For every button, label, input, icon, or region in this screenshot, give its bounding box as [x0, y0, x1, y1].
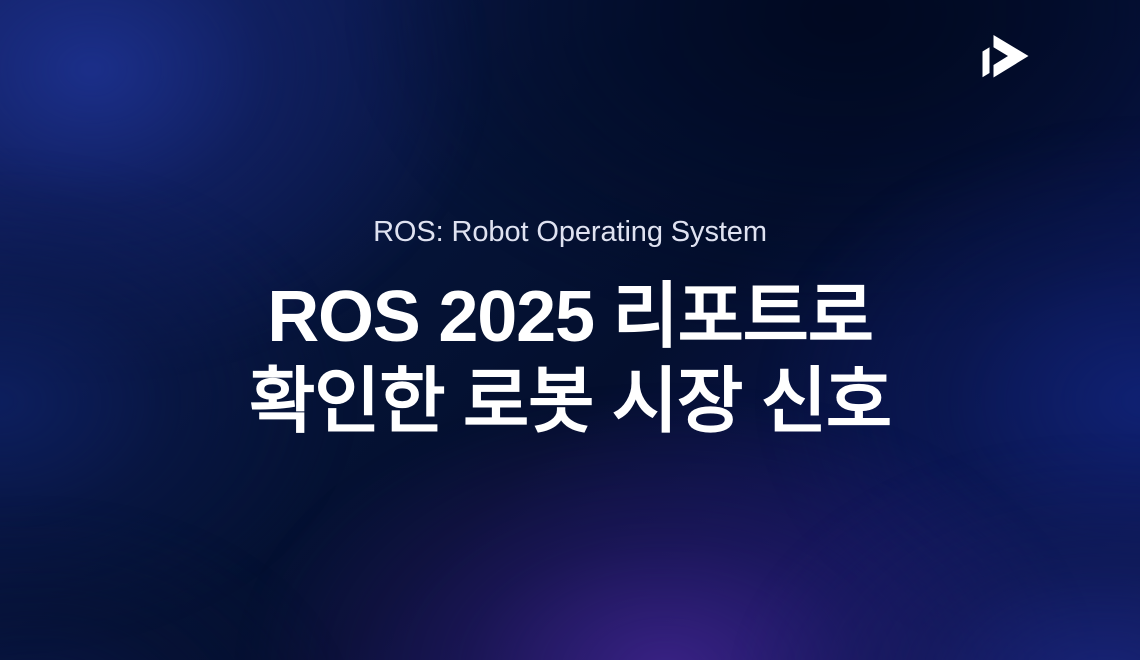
- headline-line-1: ROS 2025 리포트로: [249, 275, 891, 359]
- play-arrow-logo-icon[interactable]: [980, 32, 1032, 84]
- page-title: ROS 2025 리포트로 확인한 로봇 시장 신호: [249, 275, 891, 443]
- promo-banner: ROS: Robot Operating System ROS 2025 리포트…: [0, 0, 1140, 660]
- headline-line-2: 확인한 로봇 시장 신호: [249, 360, 891, 444]
- eyebrow-subtitle: ROS: Robot Operating System: [373, 216, 767, 249]
- banner-content: ROS: Robot Operating System ROS 2025 리포트…: [0, 0, 1140, 660]
